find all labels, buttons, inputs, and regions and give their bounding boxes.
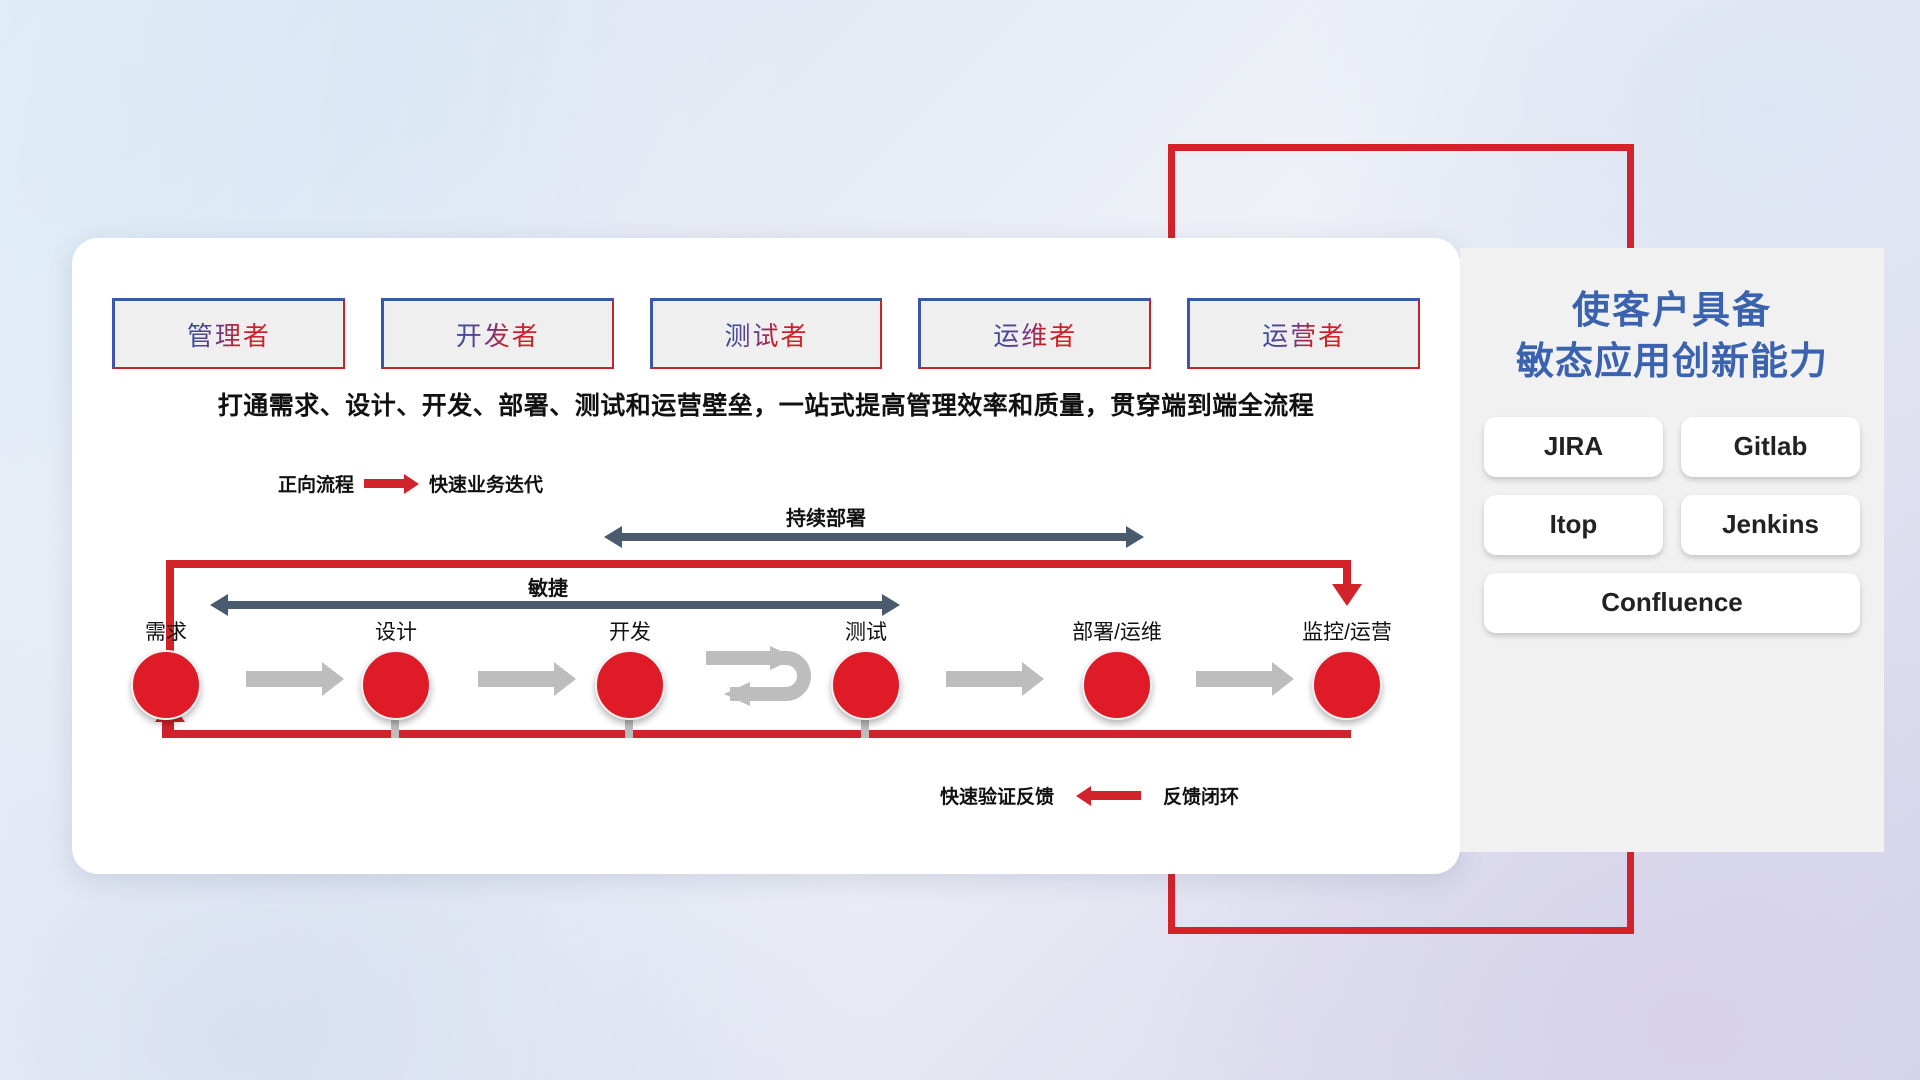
stage-requirement[interactable]: 需求	[100, 616, 232, 720]
stage-dot	[1312, 650, 1382, 720]
stage-dot	[595, 650, 665, 720]
tool-chip-itop[interactable]: Itop	[1484, 495, 1663, 555]
stage-label: 需求	[100, 616, 232, 646]
tool-chip-confluence[interactable]: Confluence	[1484, 573, 1860, 633]
stage-label: 开发	[564, 616, 696, 646]
tool-chip-gitlab[interactable]: Gitlab	[1681, 417, 1860, 477]
panel-title-line1: 使客户具备	[1460, 248, 1884, 337]
stage-dot	[1082, 650, 1152, 720]
stage-label: 部署/运维	[1032, 616, 1202, 646]
stage-label: 设计	[330, 616, 462, 646]
stage-dot	[831, 650, 901, 720]
flow-arrow-2-icon	[478, 662, 576, 696]
stage-dot	[361, 650, 431, 720]
stage-deploy-ops[interactable]: 部署/运维	[1032, 616, 1202, 720]
flow-arrow-3-icon	[946, 662, 1044, 696]
stage-monitor-operations[interactable]: 监控/运营	[1262, 616, 1432, 720]
tool-chip-jira[interactable]: JIRA	[1484, 417, 1663, 477]
panel-title-line2: 敏态应用创新能力	[1460, 337, 1884, 388]
stage-test[interactable]: 测试	[800, 616, 932, 720]
stage-dot	[131, 650, 201, 720]
stage-label: 测试	[800, 616, 932, 646]
tool-chip-grid: JIRA Gitlab Itop Jenkins Confluence	[1484, 417, 1860, 633]
stage-design[interactable]: 设计	[330, 616, 462, 720]
stage-develop[interactable]: 开发	[564, 616, 696, 720]
stage-label: 监控/运营	[1262, 616, 1432, 646]
capability-panel: 使客户具备 敏态应用创新能力 JIRA Gitlab Itop Jenkins …	[1460, 248, 1884, 852]
tool-chip-jenkins[interactable]: Jenkins	[1681, 495, 1860, 555]
